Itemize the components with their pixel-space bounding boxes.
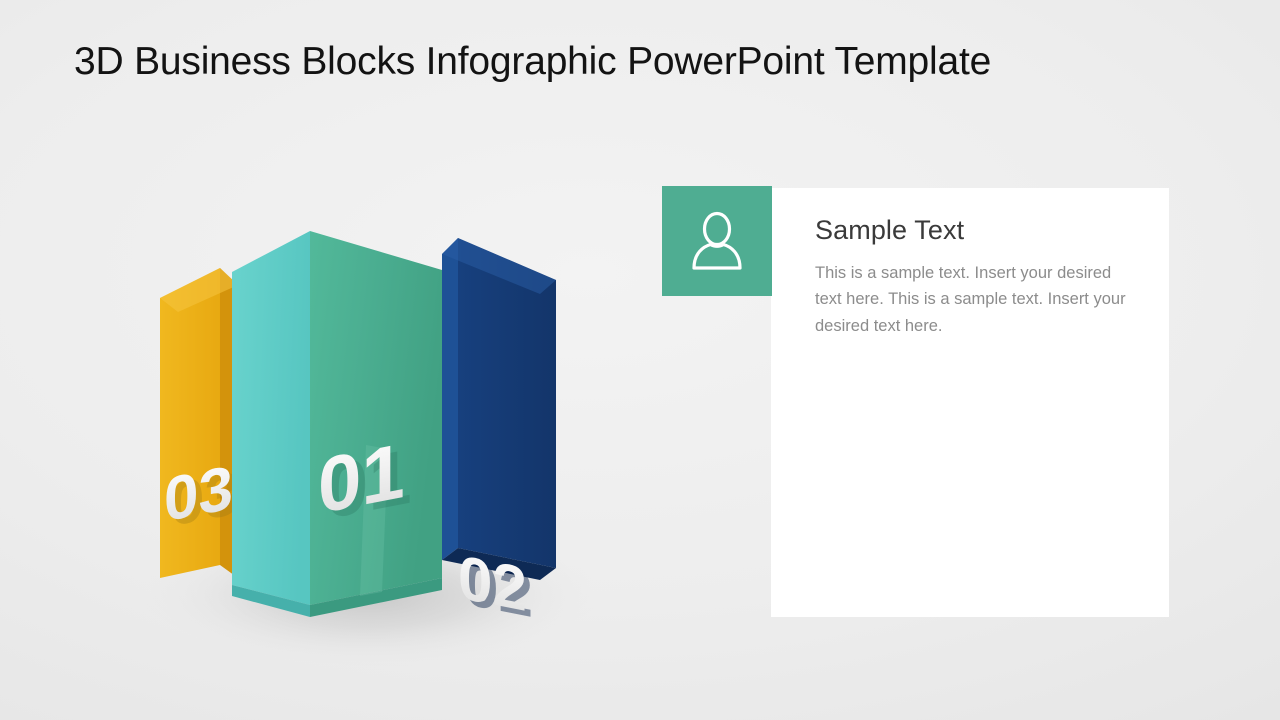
block-03-number: 03 03 (164, 453, 239, 541)
person-icon (688, 210, 746, 272)
card-body: Sample Text This is a sample text. Inser… (815, 215, 1145, 339)
card-paragraph: This is a sample text. Insert your desir… (815, 260, 1133, 339)
svg-text:02: 02 (458, 542, 527, 625)
card-heading: Sample Text (815, 215, 1145, 246)
block-01: 01 01 (232, 231, 442, 617)
block-02-number: 02 02 (458, 542, 533, 631)
page-title: 3D Business Blocks Infographic PowerPoin… (74, 40, 991, 85)
block-02: 02 02 (442, 238, 556, 631)
blocks-graphic: 03 03 02 02 (120, 200, 640, 680)
icon-badge[interactable] (662, 186, 772, 296)
svg-text:03: 03 (164, 453, 233, 536)
block-01-number: 01 01 (318, 426, 412, 536)
block-01-left-face (232, 231, 310, 605)
block-03: 03 03 (160, 268, 239, 578)
block-02-edge (442, 238, 458, 560)
svg-text:01: 01 (318, 426, 405, 530)
